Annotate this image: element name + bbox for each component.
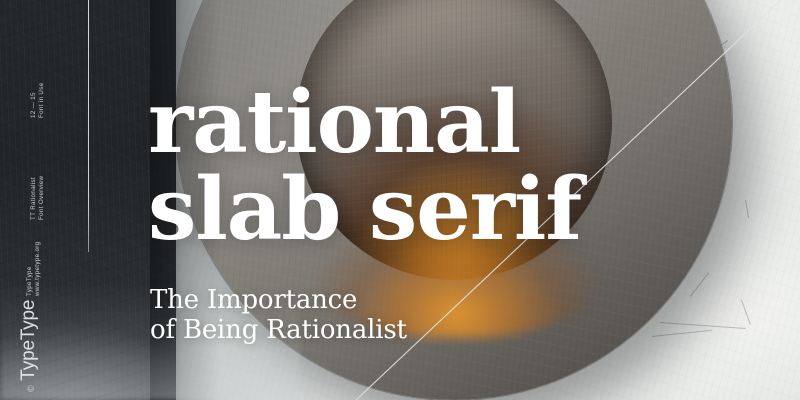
meta-block-foundry[interactable]: TypeType www.typetype.org <box>26 242 42 296</box>
brand-name: TypeType <box>18 300 40 381</box>
meta-block-font-overview: TT Rationalist Font Overview <box>30 176 46 220</box>
foundry-name: TypeType <box>26 242 34 296</box>
brand-logotype: © TypeType <box>18 300 40 392</box>
headline-line-1: rational <box>148 84 581 161</box>
meta-font-name: TT Rationalist <box>30 176 38 220</box>
meta-label: Font Overview <box>38 176 46 220</box>
headline-line-2: slab serif <box>148 171 581 248</box>
copyright-symbol: © <box>26 386 36 392</box>
meta-label: Font in Use <box>38 83 46 119</box>
page-subtitle: The Importance of Being Rationalist <box>150 285 407 346</box>
meta-block-font-in-use: 12 — 15 Font in Use <box>30 83 46 119</box>
poster-canvas: 12 — 15 Font in Use TT Rationalist Font … <box>0 0 800 400</box>
subtitle-line-1: The Importance <box>150 285 407 315</box>
meta-number: 12 — 15 <box>30 83 38 119</box>
page-title: rational slab serif <box>148 84 581 249</box>
subtitle-line-2: of Being Rationalist <box>150 315 407 345</box>
foundry-website[interactable]: www.typetype.org <box>34 242 42 296</box>
vertical-hairline-rule <box>88 0 89 252</box>
